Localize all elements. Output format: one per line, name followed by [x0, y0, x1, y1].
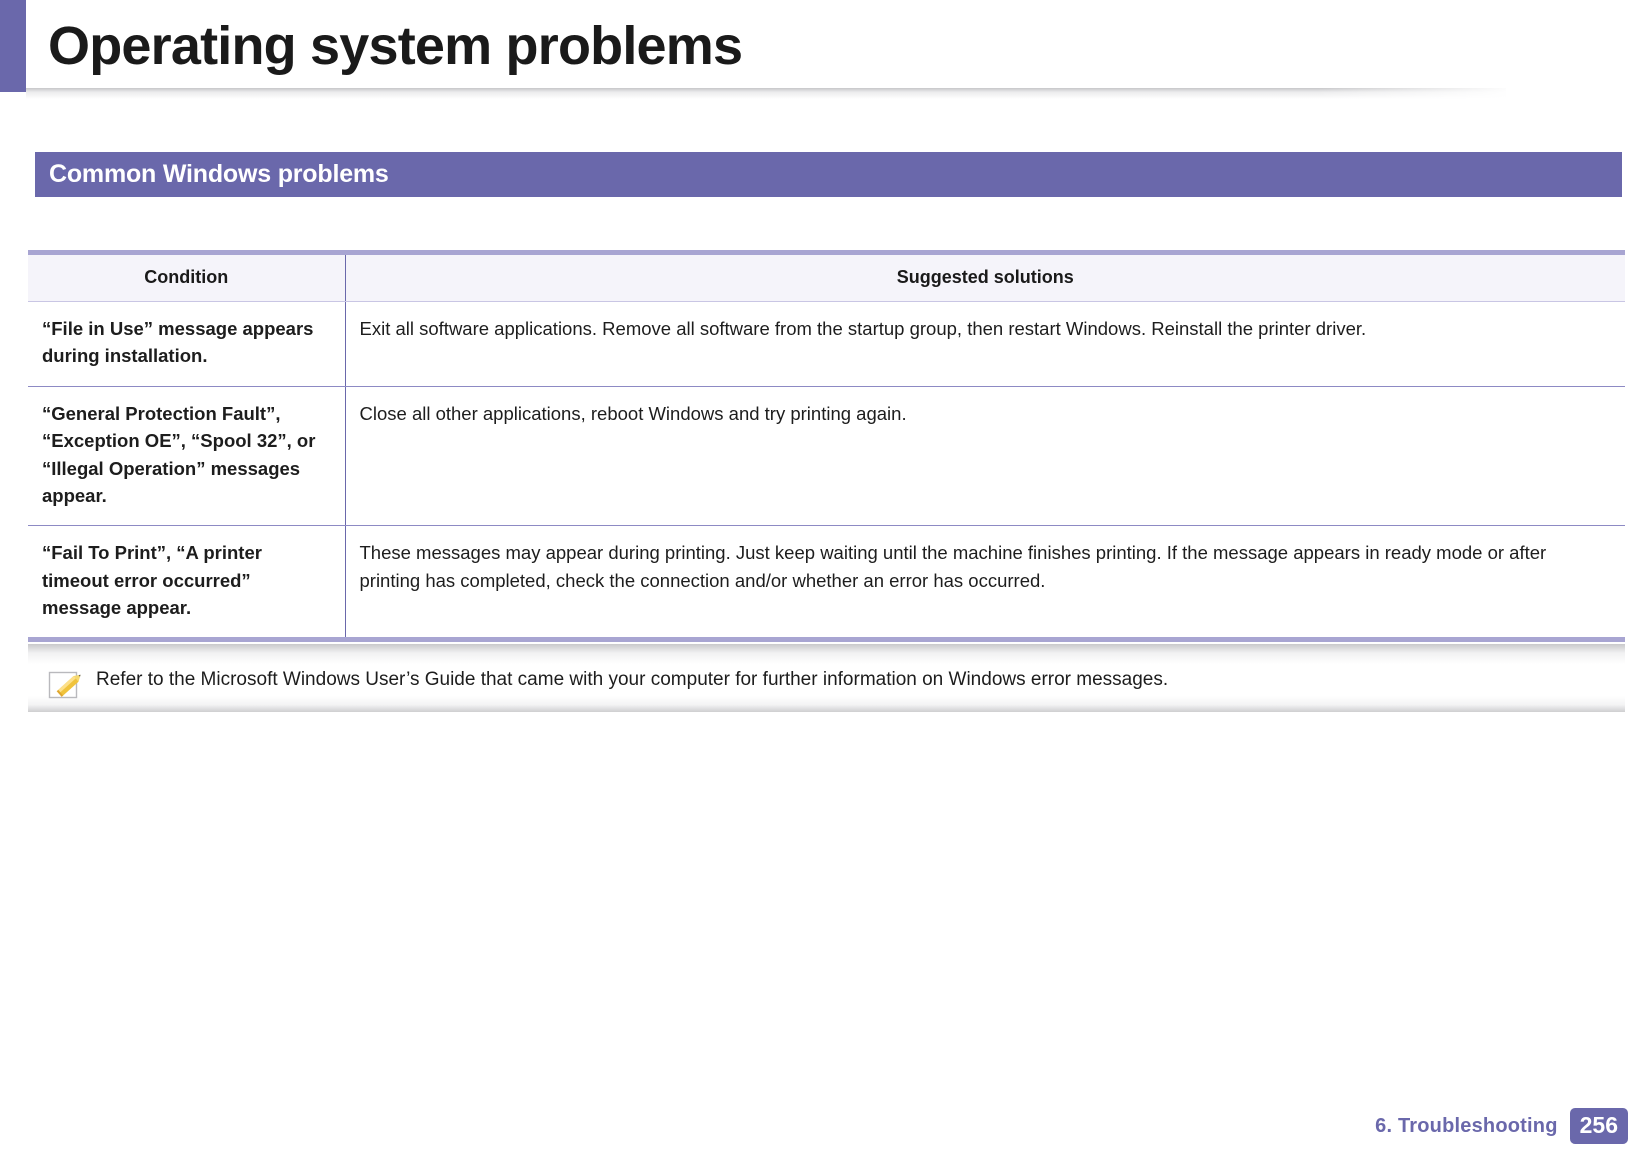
- document-page: Operating system problems Common Windows…: [0, 0, 1650, 1158]
- table-head: Condition Suggested solutions: [28, 253, 1625, 302]
- note-callout: Refer to the Microsoft Windows User’s Gu…: [28, 644, 1625, 712]
- table-row: “General Protection Fault”, “Exception O…: [28, 386, 1625, 526]
- page-header: Operating system problems: [0, 0, 1650, 95]
- section-heading-band: Common Windows problems: [35, 152, 1622, 197]
- column-header-solutions: Suggested solutions: [345, 253, 1625, 302]
- table-row: “File in Use” message appears during ins…: [28, 302, 1625, 387]
- note-pencil-icon: [48, 668, 84, 700]
- page-title: Operating system problems: [48, 2, 742, 90]
- column-header-condition: Condition: [28, 253, 345, 302]
- cell-condition: “File in Use” message appears during ins…: [28, 302, 345, 387]
- cell-condition: “General Protection Fault”, “Exception O…: [28, 386, 345, 526]
- footer-page-number: 256: [1570, 1108, 1628, 1144]
- page-footer: 6. Troubleshooting 256: [1375, 1108, 1628, 1144]
- footer-chapter-label: 6. Troubleshooting: [1375, 1115, 1558, 1138]
- table-row: “Fail To Print”, “A printer timeout erro…: [28, 526, 1625, 640]
- table-body: “File in Use” message appears during ins…: [28, 302, 1625, 640]
- cell-solution: These messages may appear during printin…: [345, 526, 1625, 640]
- note-text: Refer to the Microsoft Windows User’s Gu…: [96, 666, 1168, 694]
- note-top-divider: [28, 644, 1625, 664]
- cell-solution: Close all other applications, reboot Win…: [345, 386, 1625, 526]
- cell-solution: Exit all software applications. Remove a…: [345, 302, 1625, 387]
- title-underline-shadow: [26, 88, 1506, 99]
- title-accent-bar: [0, 0, 26, 92]
- note-bottom-divider: [28, 696, 1625, 712]
- cell-condition: “Fail To Print”, “A printer timeout erro…: [28, 526, 345, 640]
- problems-table-wrapper: Condition Suggested solutions “File in U…: [28, 250, 1625, 642]
- table-header-row: Condition Suggested solutions: [28, 253, 1625, 302]
- problems-table: Condition Suggested solutions “File in U…: [28, 250, 1625, 642]
- section-heading-label: Common Windows problems: [49, 152, 389, 197]
